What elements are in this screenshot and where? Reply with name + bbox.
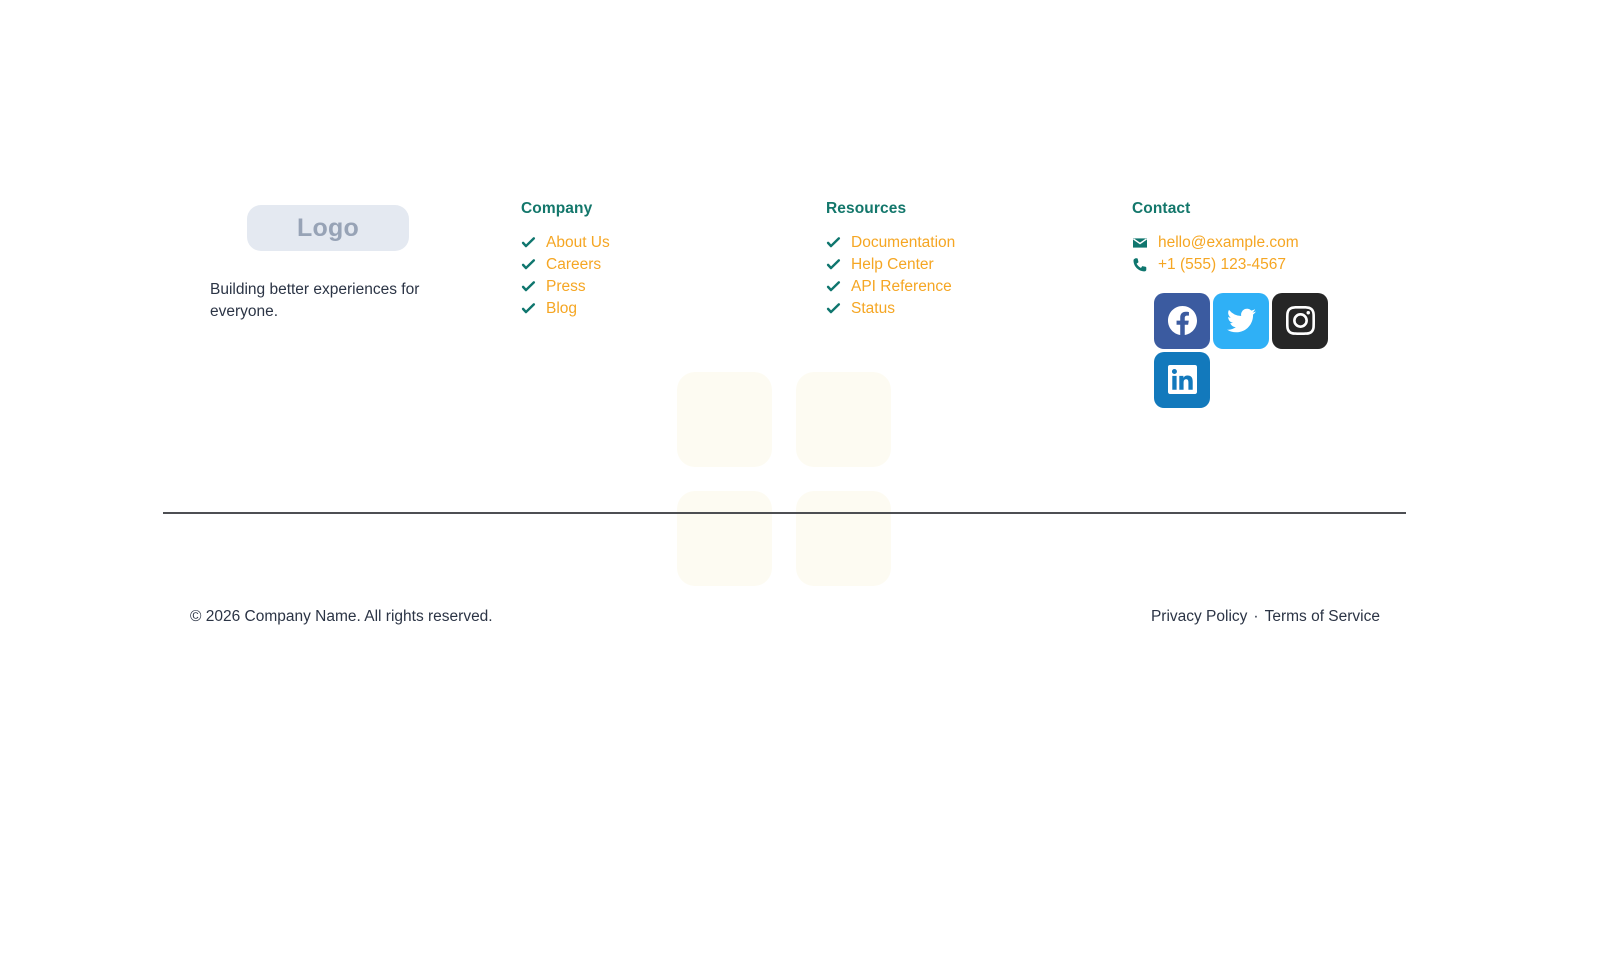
footer-link-documentation[interactable]: Documentation [826,232,1106,254]
brand-column: Logo Building better experiences for eve… [163,200,493,324]
footer-link-label: API Reference [851,279,952,295]
footer-column-resources: Resources Documentation Help Center [826,200,1106,320]
footer-link-status[interactable]: Status [826,298,1106,320]
footer-link-careers[interactable]: Careers [521,254,801,276]
instagram-icon [1286,306,1315,335]
footer-column-contact: Contact hello@example.com +1 (555) 123-4… [1132,200,1412,408]
column-title-company: Company [521,200,801,218]
footer-link-blog[interactable]: Blog [521,298,801,320]
social-link-facebook[interactable] [1154,293,1210,349]
legal-links: Privacy Policy · Terms of Service [1151,608,1406,626]
check-icon [826,235,841,250]
footer-link-api-reference[interactable]: API Reference [826,276,1106,298]
column-title-contact: Contact [1132,200,1412,218]
footer-link-label: Careers [546,257,601,273]
contact-email-row[interactable]: hello@example.com [1132,232,1412,254]
contact-phone-row[interactable]: +1 (555) 123-4567 [1132,254,1412,276]
contact-phone: +1 (555) 123-4567 [1158,257,1286,273]
footer-link-help-center[interactable]: Help Center [826,254,1106,276]
footer-link-press[interactable]: Press [521,276,801,298]
check-icon [826,279,841,294]
check-icon [521,279,536,294]
envelope-icon [1132,235,1148,251]
twitter-icon [1227,306,1256,335]
footer-link-label: Documentation [851,235,955,251]
copyright-text: © 2026 Company Name. All rights reserved… [163,608,493,626]
footer-divider [163,512,1406,514]
check-icon [826,301,841,316]
logo-placeholder[interactable]: Logo [247,205,409,251]
footer-link-label: Press [546,279,586,295]
privacy-policy-link[interactable]: Privacy Policy [1151,608,1247,626]
footer-bottom-bar: © 2026 Company Name. All rights reserved… [163,596,1406,638]
social-link-instagram[interactable] [1272,293,1328,349]
check-icon [826,257,841,272]
site-footer: Logo Building better experiences for eve… [0,0,1600,978]
footer-link-label: Status [851,301,895,317]
contact-email: hello@example.com [1158,235,1299,251]
check-icon [521,235,536,250]
linkedin-icon [1168,365,1197,394]
footer-link-label: About Us [546,235,610,251]
social-link-twitter[interactable] [1213,293,1269,349]
legal-separator: · [1253,608,1258,626]
check-icon [521,301,536,316]
social-link-linkedin[interactable] [1154,352,1210,408]
footer-column-company: Company About Us Careers [521,200,801,320]
link-list-resources: Documentation Help Center API Reference [826,232,1106,320]
social-links [1132,293,1330,408]
footer-link-about-us[interactable]: About Us [521,232,801,254]
footer-link-label: Blog [546,301,577,317]
footer-columns: Logo Building better experiences for eve… [163,200,1406,430]
footer-link-label: Help Center [851,257,934,273]
column-title-resources: Resources [826,200,1106,218]
facebook-icon [1168,306,1197,335]
logo-label: Logo [297,216,359,241]
check-icon [521,257,536,272]
terms-of-service-link[interactable]: Terms of Service [1265,608,1380,626]
link-list-company: About Us Careers Press [521,232,801,320]
phone-icon [1132,257,1148,273]
brand-tagline: Building better experiences for everyone… [163,279,440,324]
